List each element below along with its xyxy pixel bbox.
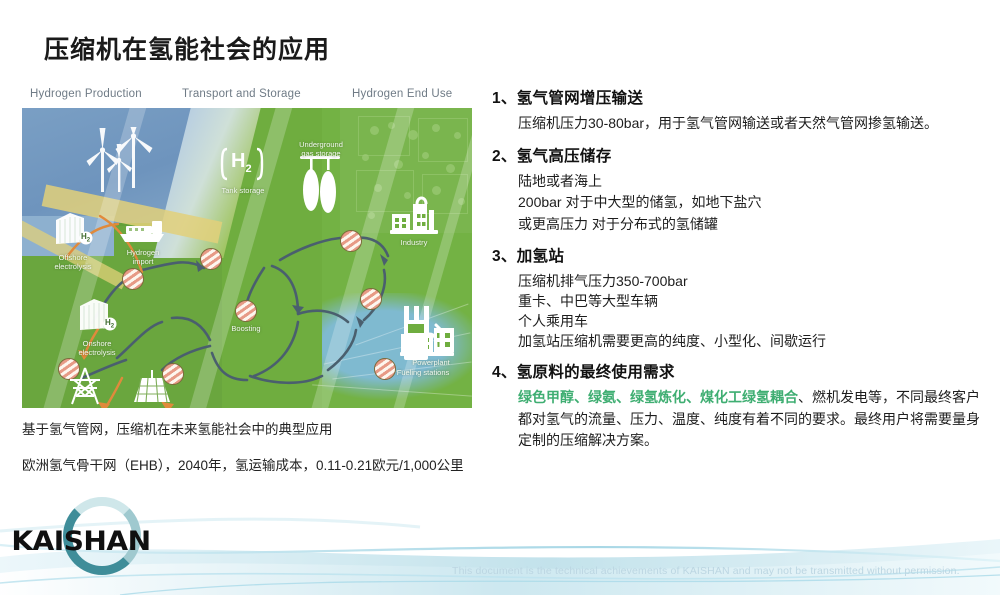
label-fueling-stations: Fueling stations — [380, 368, 466, 377]
label-tank-storage: Tank storage — [209, 186, 277, 195]
section-2: 2、氢气高压储存 陆地或者海上 200bar 对于中大型的储氢，如地下盐穴 或更… — [492, 144, 984, 236]
onshore-electrolysis-icon — [74, 294, 118, 336]
diagram-header-production: Hydrogen Production — [30, 88, 142, 100]
section-3-body: 压缩机排气压力350-700bar 重卡、中巴等大型车辆 个人乘用车 加氢站压缩… — [492, 271, 984, 351]
compressor-node — [340, 230, 362, 252]
h2-subscript: 2 — [87, 238, 90, 244]
section-3: 3、加氢站 压缩机排气压力350-700bar 重卡、中巴等大型车辆 个人乘用车… — [492, 244, 984, 351]
diagram-caption-secondary: 欧洲氢气骨干网（EHB），2040年，氢运输成本，0.11-0.21欧元/1,0… — [22, 455, 484, 476]
section-4-highlight: 绿色甲醇、绿氨、绿氢炼化、煤化工绿氢耦合 — [518, 389, 798, 405]
label-industry: Industry — [386, 238, 442, 247]
diagram-canvas: H2 Offshore electrolysis Hydrogen import — [22, 108, 472, 408]
h2-badge-onshore: H2 — [105, 318, 114, 330]
section-1-heading: 1、氢气管网增压输送 — [492, 86, 984, 108]
label-onshore-electrolysis: Onshore electrolysis — [66, 339, 128, 357]
diagram-column-headers: Hydrogen Production Transport and Storag… — [22, 88, 472, 108]
hydrogen-society-diagram: Hydrogen Production Transport and Storag… — [22, 88, 472, 408]
offshore-electrolysis-icon — [50, 208, 94, 250]
h2-letter: H — [405, 335, 415, 351]
section-4-body: 绿色甲醇、绿氨、绿氢炼化、煤化工绿氢耦合、燃机发电等，不同最终客户都对氢气的流量… — [492, 387, 984, 452]
section-1: 1、氢气管网增压输送 压缩机压力30-80bar，用于氢气管网输送或者天然气管网… — [492, 86, 984, 135]
compressor-node — [200, 248, 222, 270]
hydrogen-import-ship-icon — [116, 214, 168, 246]
section-2-heading: 2、氢气高压储存 — [492, 144, 984, 166]
section-4: 4、氢原料的最终使用需求 绿色甲醇、绿氨、绿氢炼化、煤化工绿氢耦合、燃机发电等，… — [492, 360, 984, 452]
slide-footer: KAISHAN This document is the technical a… — [0, 487, 1000, 595]
industry-icon — [386, 192, 442, 236]
section-4-heading: 4、氢原料的最终使用需求 — [492, 360, 984, 382]
section-1-body: 压缩机压力30-80bar，用于氢气管网输送或者天然气管网掺氢输送。 — [492, 113, 984, 135]
h2-subscript: 2 — [245, 163, 251, 175]
content-sections: 1、氢气管网增压输送 压缩机压力30-80bar，用于氢气管网输送或者天然气管网… — [492, 86, 984, 461]
tank-storage-h2-text: H2 — [231, 151, 252, 179]
h2-letter: H — [231, 150, 245, 172]
compressor-node — [122, 268, 144, 290]
label-hydrogen-import: Hydrogen import — [114, 248, 172, 266]
page-title: 压缩机在氢能社会的应用 — [44, 30, 330, 66]
compressor-node — [235, 300, 257, 322]
h2-badge-offshore: H2 — [81, 232, 90, 244]
diagram-header-transport: Transport and Storage — [182, 88, 301, 100]
logo-wordmark: KAISHAN — [11, 526, 150, 557]
h2-subscript: 2 — [111, 324, 114, 330]
fueling-station-h2-text: H2 — [405, 336, 420, 357]
label-boosting: Boosting — [214, 324, 278, 333]
label-underground-gas-storage: Underground gas storage — [286, 140, 356, 158]
diagram-header-enduse: Hydrogen End Use — [352, 88, 452, 100]
compressor-node — [360, 288, 382, 310]
diagram-caption-primary: 基于氢气管网，压缩机在未来氢能社会中的典型应用 — [22, 420, 482, 439]
footer-disclaimer: This document is the technical achieveme… — [452, 565, 960, 577]
power-pylon-icon — [64, 366, 106, 406]
underground-gas-storage-icon — [294, 156, 346, 220]
h2-subscript: 2 — [415, 345, 419, 354]
kaishan-logo: KAISHAN — [8, 497, 188, 577]
section-3-heading: 3、加氢站 — [492, 244, 984, 266]
label-offshore-electrolysis: Offshore electrolysis — [42, 253, 104, 271]
section-2-body: 陆地或者海上 200bar 对于中大型的储氢，如地下盐穴 或更高压力 对于分布式… — [492, 171, 984, 236]
wind-turbine-icon — [80, 126, 160, 198]
solar-panels-icon — [128, 368, 176, 406]
